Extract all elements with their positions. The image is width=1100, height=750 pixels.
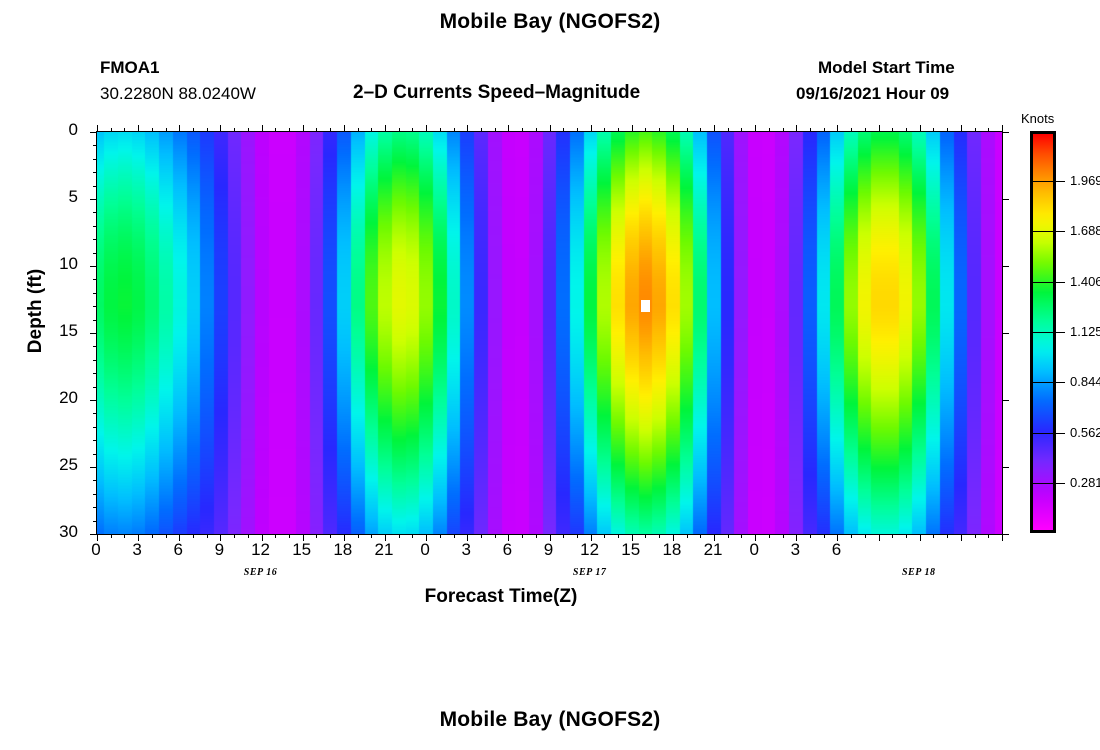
x-tick-minor — [248, 534, 249, 538]
y-tick — [1002, 333, 1009, 334]
x-tick-label: 6 — [816, 540, 856, 560]
colorbar-tick — [1056, 332, 1065, 333]
x-tick-minor — [330, 534, 331, 538]
plot-subtitle: 2–D Currents Speed–Magnitude — [353, 82, 640, 104]
x-tick — [426, 125, 427, 132]
bottom-title: Mobile Bay (NGOFS2) — [0, 708, 1100, 732]
y-tick-minor — [93, 387, 97, 388]
x-tick-minor — [933, 128, 934, 132]
x-tick — [262, 125, 263, 132]
y-tick-minor — [93, 346, 97, 347]
y-tick-minor — [93, 145, 97, 146]
x-tick-minor — [728, 534, 729, 538]
x-tick-minor — [124, 534, 125, 538]
x-tick-label: 15 — [282, 540, 322, 560]
y-tick-minor — [93, 253, 97, 254]
y-tick-minor — [93, 293, 97, 294]
x-tick-label: 18 — [323, 540, 363, 560]
x-tick-label: 21 — [364, 540, 404, 560]
x-tick-minor — [618, 128, 619, 132]
heatmap-plot-area — [96, 131, 1003, 535]
colorbar-inner-tick — [1033, 332, 1053, 333]
colorbar-tick-label: 1.969 — [1070, 173, 1100, 188]
y-tick — [90, 266, 97, 267]
y-tick-minor — [93, 186, 97, 187]
x-tick-label: 21 — [693, 540, 733, 560]
y-tick-minor — [93, 279, 97, 280]
x-tick-minor — [577, 534, 578, 538]
x-tick-minor — [783, 128, 784, 132]
y-tick-minor — [93, 239, 97, 240]
x-tick-minor — [700, 534, 701, 538]
x-tick-minor — [111, 534, 112, 538]
y-axis-title: Depth (ft) — [25, 231, 47, 391]
colorbar-inner-tick — [1033, 231, 1053, 232]
y-tick-minor — [93, 427, 97, 428]
x-tick-label: 6 — [487, 540, 527, 560]
x-tick-minor — [536, 534, 537, 538]
colorbar-tick — [1056, 483, 1065, 484]
x-tick — [755, 125, 756, 132]
day-label: SEP 17 — [550, 567, 630, 578]
x-tick — [1002, 125, 1003, 132]
x-tick-minor — [810, 534, 811, 538]
x-tick-minor — [193, 534, 194, 538]
y-tick-minor — [93, 320, 97, 321]
y-tick — [90, 534, 97, 535]
colorbar-inner-tick — [1033, 483, 1053, 484]
y-tick-minor — [93, 454, 97, 455]
x-tick — [220, 125, 221, 132]
x-tick-minor — [454, 128, 455, 132]
x-tick-minor — [659, 534, 660, 538]
x-tick — [385, 125, 386, 132]
x-tick-minor — [769, 534, 770, 538]
x-tick-minor — [207, 534, 208, 538]
x-tick-minor — [892, 128, 893, 132]
x-tick-minor — [152, 534, 153, 538]
x-tick-minor — [207, 128, 208, 132]
x-tick — [179, 125, 180, 132]
x-tick-minor — [289, 128, 290, 132]
x-tick — [344, 125, 345, 132]
x-tick-label: 12 — [570, 540, 610, 560]
x-tick-minor — [769, 128, 770, 132]
x-tick-minor — [111, 128, 112, 132]
y-tick-minor — [93, 480, 97, 481]
x-tick — [920, 125, 921, 132]
x-tick — [467, 125, 468, 132]
x-tick-minor — [933, 534, 934, 538]
x-tick-minor — [659, 128, 660, 132]
x-tick — [879, 534, 880, 541]
x-tick-minor — [440, 128, 441, 132]
x-tick-minor — [604, 534, 605, 538]
x-tick-minor — [906, 534, 907, 538]
heatmap-canvas — [97, 132, 1002, 534]
x-tick-minor — [851, 534, 852, 538]
x-tick-minor — [234, 534, 235, 538]
x-tick-minor — [577, 128, 578, 132]
x-tick-minor — [645, 128, 646, 132]
colorbar-tick — [1056, 382, 1065, 383]
colorbar-tick — [1056, 231, 1065, 232]
x-tick-minor — [687, 128, 688, 132]
y-tick-label: 25 — [34, 455, 78, 475]
x-tick-minor — [741, 128, 742, 132]
x-tick-minor — [234, 128, 235, 132]
colorbar-tick-label: 0.281 — [1070, 475, 1100, 490]
x-tick-minor — [399, 534, 400, 538]
y-tick-minor — [93, 494, 97, 495]
x-tick-minor — [563, 534, 564, 538]
x-tick — [632, 125, 633, 132]
x-tick-minor — [481, 534, 482, 538]
x-tick-label: 3 — [117, 540, 157, 560]
y-tick — [90, 467, 97, 468]
x-tick-minor — [358, 128, 359, 132]
x-tick-minor — [358, 534, 359, 538]
x-tick-minor — [865, 128, 866, 132]
station-id: FMOA1 — [100, 58, 160, 78]
x-tick-minor — [522, 534, 523, 538]
x-tick-minor — [536, 128, 537, 132]
x-tick-minor — [988, 534, 989, 538]
x-tick — [879, 125, 880, 132]
x-tick-minor — [481, 128, 482, 132]
y-tick — [1002, 467, 1009, 468]
x-tick-minor — [700, 128, 701, 132]
x-tick-minor — [275, 534, 276, 538]
x-tick — [920, 534, 921, 541]
colorbar-title: Knots — [1021, 111, 1054, 126]
model-start-time-value: 09/16/2021 Hour 09 — [796, 84, 949, 104]
colorbar-tick-label: 1.406 — [1070, 274, 1100, 289]
y-tick-minor — [93, 306, 97, 307]
y-tick-label: 5 — [34, 187, 78, 207]
colorbar-tick-label: 1.688 — [1070, 223, 1100, 238]
x-tick — [550, 125, 551, 132]
x-tick — [961, 534, 962, 541]
x-tick-minor — [645, 534, 646, 538]
x-tick-minor — [851, 128, 852, 132]
x-tick-label: 0 — [76, 540, 116, 560]
x-tick-label: 0 — [405, 540, 445, 560]
y-tick-minor — [93, 507, 97, 508]
x-tick-label: 6 — [158, 540, 198, 560]
x-tick-minor — [892, 534, 893, 538]
colorbar-tick — [1056, 181, 1065, 182]
maximum-value-marker — [641, 300, 650, 312]
x-tick-label: 18 — [652, 540, 692, 560]
x-tick-minor — [810, 128, 811, 132]
colorbar-inner-tick — [1033, 282, 1053, 283]
y-tick — [1002, 534, 1009, 535]
x-tick-minor — [563, 128, 564, 132]
y-tick-minor — [93, 521, 97, 522]
day-label: SEP 16 — [221, 567, 301, 578]
y-tick — [1002, 132, 1009, 133]
x-tick — [508, 125, 509, 132]
y-tick-label: 30 — [34, 522, 78, 542]
x-tick-minor — [495, 128, 496, 132]
x-tick-minor — [289, 534, 290, 538]
x-tick — [97, 125, 98, 132]
x-tick-minor — [783, 534, 784, 538]
station-coordinates: 30.2280N 88.0240W — [100, 84, 256, 104]
x-tick-label: 3 — [775, 540, 815, 560]
x-tick-minor — [316, 128, 317, 132]
x-tick-minor — [399, 128, 400, 132]
x-tick — [673, 125, 674, 132]
y-tick-minor — [93, 212, 97, 213]
x-tick-minor — [440, 534, 441, 538]
x-tick-label: 9 — [529, 540, 569, 560]
x-tick-label: 3 — [446, 540, 486, 560]
x-tick-minor — [371, 128, 372, 132]
day-label: SEP 18 — [879, 567, 959, 578]
x-tick-minor — [604, 128, 605, 132]
y-tick-minor — [93, 413, 97, 414]
x-tick-minor — [371, 534, 372, 538]
x-axis-title: Forecast Time(Z) — [0, 586, 1100, 608]
x-tick-minor — [166, 534, 167, 538]
y-tick — [90, 400, 97, 401]
colorbar-tick — [1056, 433, 1065, 434]
y-tick — [1002, 400, 1009, 401]
colorbar-tick-label: 1.125 — [1070, 324, 1100, 339]
model-start-time-label: Model Start Time — [818, 58, 955, 78]
x-tick-minor — [947, 128, 948, 132]
x-tick — [714, 125, 715, 132]
y-tick — [90, 333, 97, 334]
x-tick-minor — [330, 128, 331, 132]
x-tick-label: 12 — [241, 540, 281, 560]
x-tick-label: 9 — [199, 540, 239, 560]
x-tick-minor — [741, 534, 742, 538]
x-tick — [837, 125, 838, 132]
x-tick-minor — [522, 128, 523, 132]
y-tick — [1002, 199, 1009, 200]
x-tick-minor — [166, 128, 167, 132]
x-tick-minor — [975, 534, 976, 538]
x-tick-minor — [865, 534, 866, 538]
x-tick-minor — [618, 534, 619, 538]
y-tick-label: 0 — [34, 120, 78, 140]
x-tick-minor — [728, 128, 729, 132]
colorbar-inner-tick — [1033, 382, 1053, 383]
y-tick — [1002, 266, 1009, 267]
x-tick-label: 0 — [734, 540, 774, 560]
colorbar-tick-label: 0.562 — [1070, 425, 1100, 440]
x-tick-minor — [454, 534, 455, 538]
x-tick-minor — [947, 534, 948, 538]
colorbar-inner-tick — [1033, 181, 1053, 182]
x-tick-minor — [975, 128, 976, 132]
x-tick — [303, 125, 304, 132]
x-tick — [1002, 534, 1003, 541]
x-tick-minor — [412, 128, 413, 132]
x-tick — [591, 125, 592, 132]
x-tick-minor — [495, 534, 496, 538]
x-tick-minor — [275, 128, 276, 132]
colorbar-inner-tick — [1033, 433, 1053, 434]
x-tick-label: 15 — [611, 540, 651, 560]
y-tick-minor — [93, 172, 97, 173]
x-tick-minor — [687, 534, 688, 538]
x-tick-minor — [906, 128, 907, 132]
y-tick-minor — [93, 159, 97, 160]
x-tick-minor — [412, 534, 413, 538]
x-tick-minor — [124, 128, 125, 132]
x-tick-minor — [824, 534, 825, 538]
x-tick-minor — [193, 128, 194, 132]
x-tick-minor — [824, 128, 825, 132]
x-tick — [796, 125, 797, 132]
y-tick — [90, 132, 97, 133]
y-tick-minor — [93, 373, 97, 374]
y-tick-label: 20 — [34, 388, 78, 408]
y-tick — [90, 199, 97, 200]
colorbar-tick — [1056, 282, 1065, 283]
colorbar: 0.2810.5620.8441.1251.4061.6881.969 — [1030, 131, 1056, 533]
y-tick-minor — [93, 440, 97, 441]
x-tick-minor — [988, 128, 989, 132]
x-tick-minor — [248, 128, 249, 132]
x-tick — [961, 125, 962, 132]
y-tick-minor — [93, 360, 97, 361]
y-tick-minor — [93, 226, 97, 227]
x-tick — [138, 125, 139, 132]
x-tick-minor — [316, 534, 317, 538]
x-tick-minor — [152, 128, 153, 132]
colorbar-tick-label: 0.844 — [1070, 374, 1100, 389]
page-title: Mobile Bay (NGOFS2) — [0, 10, 1100, 34]
